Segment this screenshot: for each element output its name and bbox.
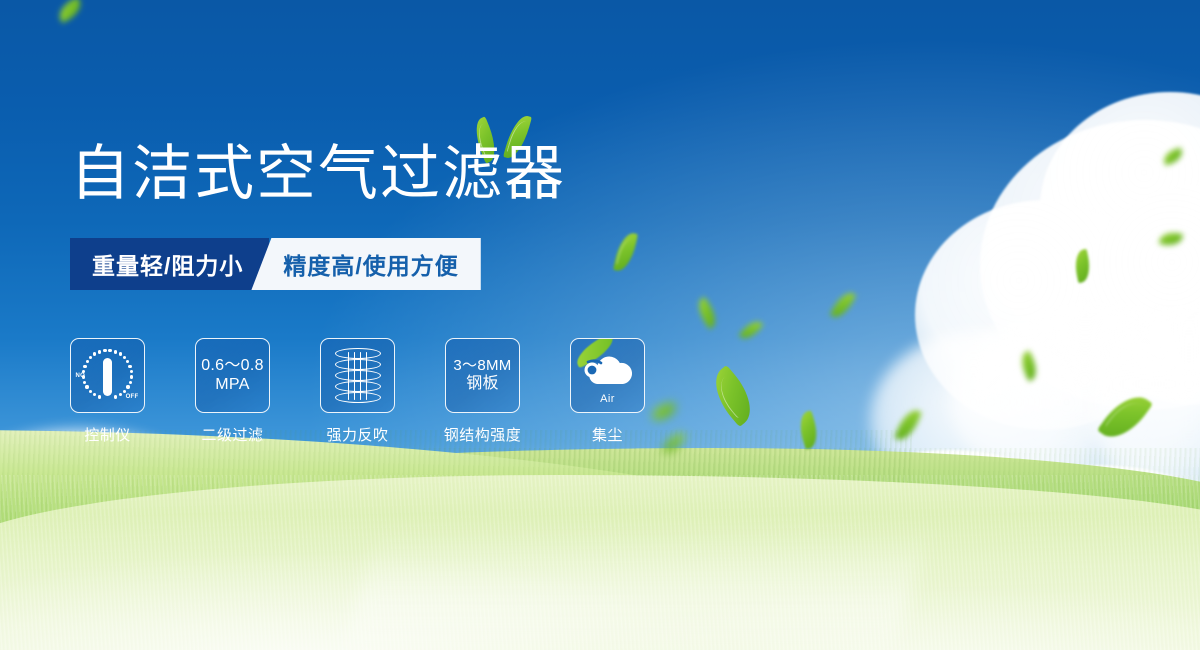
feature-label: 控制仪 [84,424,131,445]
feature-item-pressure[interactable]: 0.6～0.8 MPA 二级过滤 [195,338,270,445]
feature-icon-box: 0.6～0.8 MPA [195,338,270,413]
gauge-dot [93,352,96,355]
gauge-dot [130,375,133,378]
feature-icon-box: Air [570,338,645,413]
pressure-value: 0.6～0.8 [201,357,264,376]
air-label: Air [577,393,639,405]
filter-cartridge-icon [335,348,381,404]
gauge-dot [126,385,129,388]
grass-path [343,530,929,650]
gauge-dot [98,350,101,353]
gauge-dot [126,360,129,363]
feature-label: 集尘 [592,424,623,445]
product-banner: 自洁式空气过滤器 重量轻/阻力小 精度高/使用方便 NO OFF 控制仪 0.6… [0,0,1200,650]
gauge-dial-icon: NO OFF [77,347,139,405]
feature-item-control[interactable]: NO OFF 控制仪 [70,338,145,445]
gauge-dot [123,390,126,393]
gauge-dot [83,381,86,384]
gauge-dot [114,350,117,353]
gauge-dot [119,393,122,396]
feature-label: 二级过滤 [201,424,263,445]
cloud-glyph [577,350,639,392]
gauge-dot [119,352,122,355]
air-cloud-icon: Air [577,348,639,404]
gauge-dot [130,370,133,373]
feature-icon-box [320,338,395,413]
gauge-label-no: NO [76,373,86,379]
pressure-text-icon: 0.6～0.8 MPA [201,357,264,395]
gauge-dot [123,356,126,359]
pressure-unit: MPA [201,376,264,395]
feature-icon-box: 3～8MM 钢板 [445,338,520,413]
feature-label: 强力反吹 [326,424,388,445]
gauge-dot [89,356,92,359]
feature-icon-box: NO OFF [70,338,145,413]
page-title: 自洁式空气过滤器 [70,142,566,205]
gauge-dot [129,381,132,384]
gauge-dot [86,360,89,363]
feature-label: 钢结构强度 [444,424,522,445]
gauge-dot [93,393,96,396]
gauge-label-off: OFF [126,394,139,400]
feature-item-dust[interactable]: Air 集尘 [570,338,645,445]
feature-list: NO OFF 控制仪 0.6～0.8 MPA 二级过滤 [70,338,645,445]
subtitle-left-segment: 重量轻/阻力小 [70,238,269,290]
steel-thickness: 3～8MM [453,357,511,375]
feature-item-blowback[interactable]: 强力反吹 [320,338,395,445]
subtitle-bar: 重量轻/阻力小 精度高/使用方便 [70,238,481,290]
gauge-dot [83,365,86,368]
gauge-dot [98,395,101,398]
subtitle-right-segment: 精度高/使用方便 [251,238,480,290]
gauge-dot [89,390,92,393]
gauge-dot [103,349,106,352]
gauge-dot [128,365,131,368]
steel-plate-text-icon: 3～8MM 钢板 [453,357,511,394]
meadow [0,430,1200,650]
feature-item-steel[interactable]: 3～8MM 钢板 钢结构强度 [445,338,520,445]
gauge-dot [114,395,117,398]
gauge-dot [85,385,88,388]
gauge-dot [108,349,111,352]
steel-material: 钢板 [453,375,511,394]
gauge-needle [103,358,112,396]
